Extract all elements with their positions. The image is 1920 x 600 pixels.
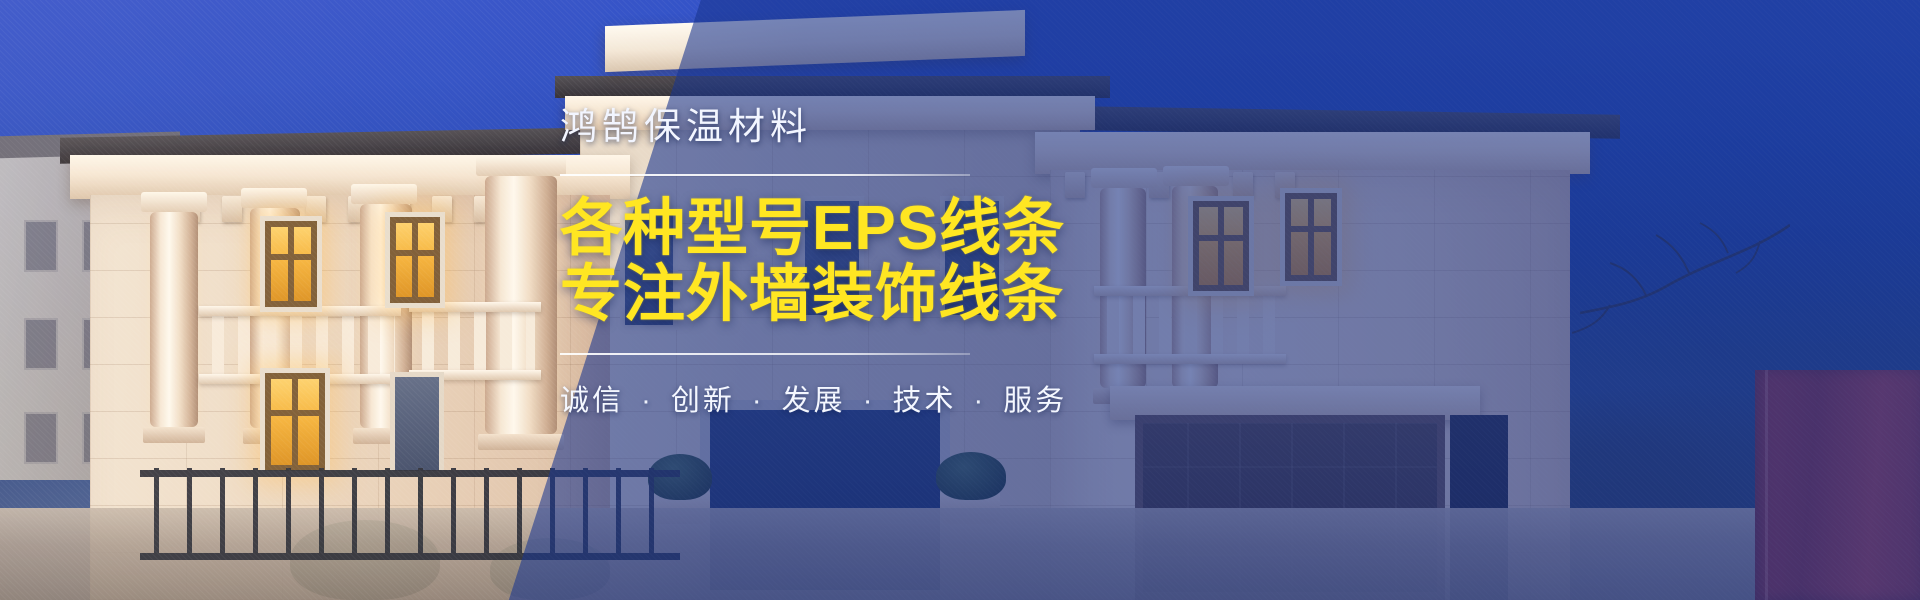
banner-text-block: 鸿鹄保温材料 各种型号EPS线条 专注外墙装饰线条 诚信 · 创新 · 发展 ·… <box>560 96 1030 419</box>
tagline-separator: · <box>857 385 882 417</box>
headline-group: 各种型号EPS线条 专注外墙装饰线条 <box>560 196 1030 327</box>
divider-top <box>560 174 970 176</box>
tagline-separator: · <box>968 385 993 417</box>
tagline-item-1: 诚信 <box>560 385 624 417</box>
brand-name: 鸿鹄保温材料 <box>560 96 1030 150</box>
divider-bottom <box>560 353 970 355</box>
headline-line-2: 专注外墙装饰线条 <box>560 262 1030 328</box>
promotional-banner: 鸿鹄保温材料 各种型号EPS线条 专注外墙装饰线条 诚信 · 创新 · 发展 ·… <box>0 0 1920 600</box>
headline-line-1: 各种型号EPS线条 <box>560 196 1030 262</box>
tagline-separator: · <box>635 385 660 417</box>
tagline-item-3: 发展 <box>782 385 846 417</box>
tagline-item-4: 技术 <box>892 385 956 417</box>
tagline-separator: · <box>746 385 771 417</box>
tagline: 诚信 · 创新 · 发展 · 技术 · 服务 <box>560 377 1030 419</box>
tagline-item-2: 创新 <box>671 385 735 417</box>
tagline-item-5: 服务 <box>1003 385 1067 417</box>
